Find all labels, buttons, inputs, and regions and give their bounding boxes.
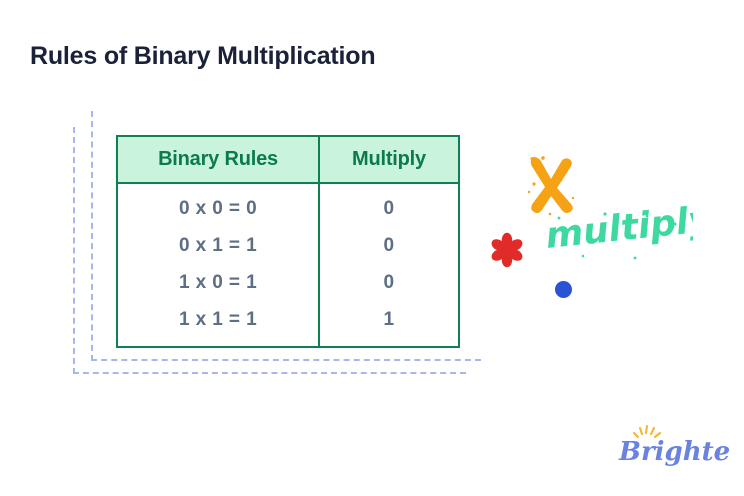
cell-rule: 0 x 1 = 1 [117,227,319,264]
cell-rule: 0 x 0 = 0 [117,183,319,227]
infographic-canvas: Rules of Binary Multiplication Binary Ru… [0,0,744,496]
multiply-word-text: multiply [544,206,693,257]
binary-multiplication-table: Binary Rules Multiply 0 x 0 = 0 0 0 x 1 … [116,135,460,348]
cell-multiply: 0 [319,264,459,301]
cell-rule: 1 x 1 = 1 [117,301,319,347]
cell-rule: 1 x 0 = 1 [117,264,319,301]
table-row: 0 x 1 = 1 0 [117,227,459,264]
brighterly-logo: Brighterly [617,424,729,472]
multiply-word-label: multiply [543,206,693,264]
cell-multiply: 0 [319,227,459,264]
brighterly-wordmark: Brighterly [618,437,729,467]
column-header-multiply: Multiply [319,136,459,183]
table-row: 0 x 0 = 0 0 [117,183,459,227]
table-header: Binary Rules Multiply [117,136,459,183]
table-header-row: Binary Rules Multiply [117,136,459,183]
table-body: 0 x 0 = 0 0 0 x 1 = 1 0 1 x 0 = 1 0 1 x … [117,183,459,347]
column-header-binary-rules: Binary Rules [117,136,319,183]
table-row: 1 x 0 = 1 0 [117,264,459,301]
cell-multiply: 1 [319,301,459,347]
page-title: Rules of Binary Multiplication [30,42,375,71]
asterisk-icon [489,232,525,268]
blue-dot-icon [555,281,572,298]
table-row: 1 x 1 = 1 1 [117,301,459,347]
sunburst-icon [634,426,660,437]
cell-multiply: 0 [319,183,459,227]
